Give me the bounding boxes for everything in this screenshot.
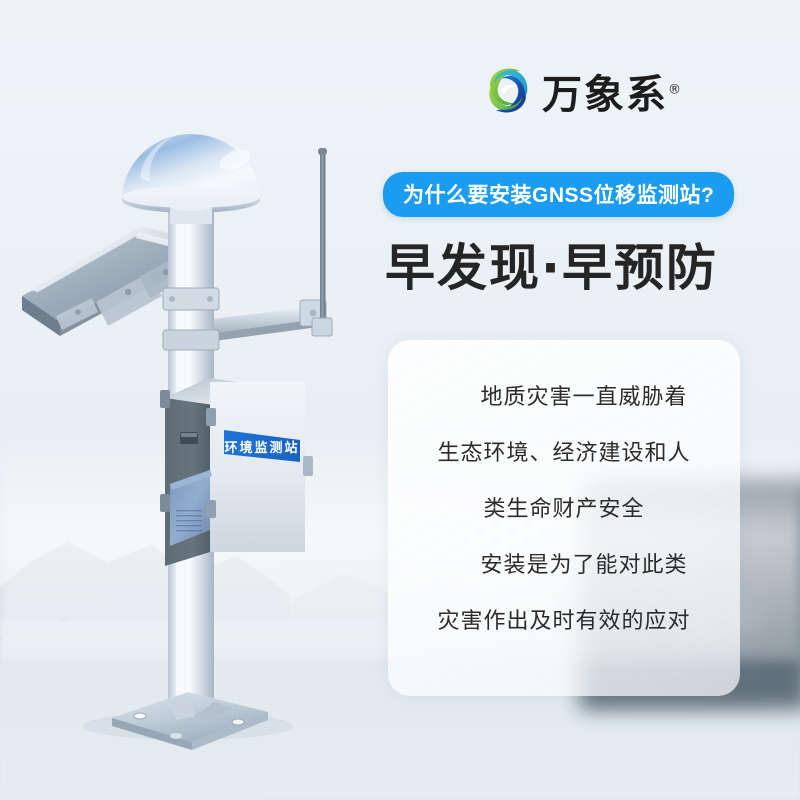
description-line: 安装是为了能对此类 <box>388 538 740 594</box>
trademark-symbol: ® <box>668 83 683 98</box>
description-line: 灾害作出及时有效的应对 <box>388 594 740 650</box>
description-line: 生态环境、经济建设和人 <box>388 426 740 482</box>
enclosure-label-text: 环境监测站 <box>224 440 299 456</box>
enclosure-box-group: 环境监测站 <box>160 378 313 566</box>
monitoring-station-illustration: 环境监测站 <box>0 0 400 800</box>
question-pill-banner: 为什么要安装GNSS位移监测站? <box>383 172 734 217</box>
brand-name: 万象系® <box>542 62 683 120</box>
description-line: 地质灾害一直威胁着 <box>388 370 740 426</box>
gnss-antenna-dome-group <box>122 134 260 224</box>
description-line: 类生命财产安全 <box>388 482 740 538</box>
swirl-globe-logo-icon <box>484 63 532 119</box>
page-headline: 早发现·早预防 <box>385 228 718 300</box>
base-plate-group <box>112 692 268 750</box>
description-card: 地质灾害一直威胁着 生态环境、经济建设和人 类生命财产安全 安装是为了能对此类 … <box>388 340 740 696</box>
brand-logo: 万象系® <box>484 62 683 120</box>
description-card-body: 地质灾害一直威胁着 生态环境、经济建设和人 类生命财产安全 安装是为了能对此类 … <box>388 370 740 650</box>
poster-canvas: 环境监测站 <box>0 0 800 800</box>
